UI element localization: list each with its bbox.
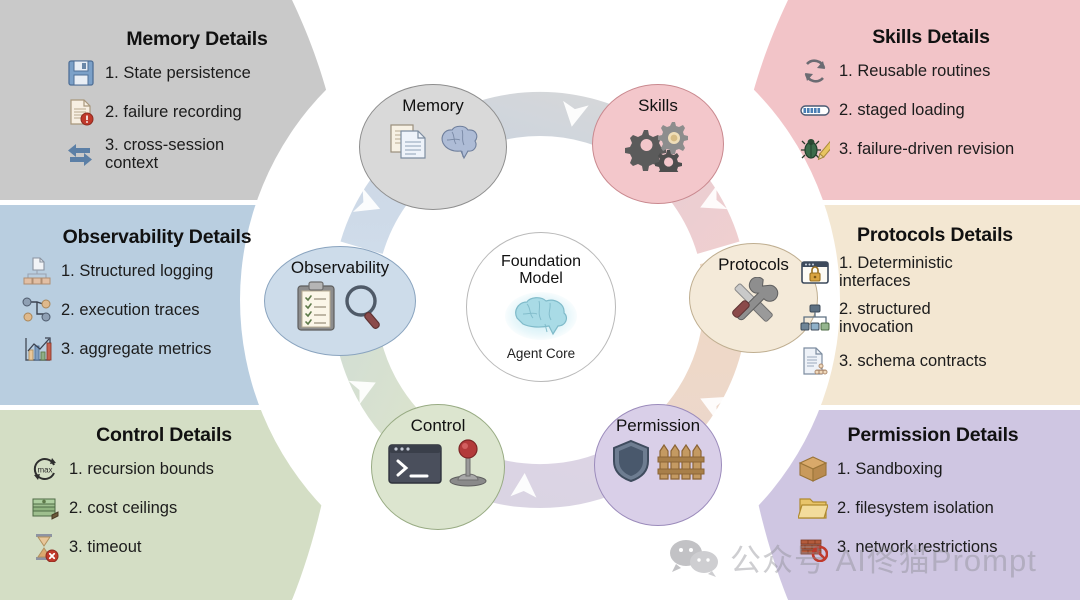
bar-chart-icon <box>22 334 52 364</box>
magnifier-icon <box>341 282 387 330</box>
document-error-icon <box>66 97 96 127</box>
panel-permission: Permission Details 1. Sandboxing 2. file… <box>798 424 1068 571</box>
firewall-blocked-icon <box>798 532 828 562</box>
brain-icon <box>436 121 480 161</box>
panel-protocols: Protocols Details 1. Deterministic inter… <box>800 224 1070 385</box>
bug-pencil-icon <box>800 134 830 164</box>
node-control[interactable]: Control <box>371 404 505 530</box>
list-item: 1. Structured logging <box>22 256 292 286</box>
graph-nodes-icon <box>22 295 52 325</box>
foundation-model-core[interactable]: Foundation Model Agent Core <box>466 232 616 382</box>
node-protocols[interactable]: Protocols <box>689 243 818 353</box>
fence-icon <box>656 439 708 483</box>
folder-icon <box>798 493 828 523</box>
list-item: 1. Deterministic interfaces <box>800 254 1070 291</box>
list-item-text: 3. aggregate metrics <box>61 340 211 358</box>
list-item: 3. aggregate metrics <box>22 334 292 364</box>
shield-icon <box>609 438 653 484</box>
max-loop-icon: max <box>30 454 60 484</box>
list-item: 2. structured invocation <box>800 300 1070 337</box>
org-tree-icon <box>800 303 830 333</box>
locked-window-icon <box>800 257 830 287</box>
panel-protocols-title: Protocols Details <box>800 224 1070 247</box>
panel-observability-title: Observability Details <box>22 226 292 249</box>
node-skills[interactable]: Skills <box>592 84 724 204</box>
documents-icon <box>387 118 433 164</box>
list-item: 1. Sandboxing <box>798 454 1068 484</box>
list-item-text: 2. filesystem isolation <box>837 499 994 517</box>
panel-control: Control Details max 1. recursion bounds … <box>30 424 298 571</box>
money-stack-icon <box>30 493 60 523</box>
panel-skills-title: Skills Details <box>800 26 1062 49</box>
list-item: 2. failure recording <box>66 97 328 127</box>
wrench-screwdriver-icon <box>723 277 785 329</box>
gears-icon <box>622 118 694 172</box>
list-item: 3. timeout <box>30 532 298 562</box>
list-item: 3. network restrictions <box>798 532 1068 562</box>
terminal-icon <box>387 439 443 487</box>
panel-memory: Memory Details 1. State persistence 2. f… <box>66 28 328 182</box>
clipboard-check-icon <box>294 280 338 332</box>
list-item-text: 3. cross-session context <box>105 136 224 173</box>
list-item: 3. schema contracts <box>800 346 1070 376</box>
hierarchy-doc-icon <box>22 256 52 286</box>
list-item-text: 3. network restrictions <box>837 538 998 556</box>
node-protocols-label: Protocols <box>718 255 789 275</box>
node-control-label: Control <box>411 416 466 436</box>
floppy-disk-icon <box>66 58 96 88</box>
schema-doc-icon <box>800 346 830 376</box>
list-item-text: 2. execution traces <box>61 301 200 319</box>
node-memory[interactable]: Memory <box>359 84 507 210</box>
diagram-canvas: Foundation Model Agent Core <box>0 0 1080 600</box>
list-item-text: 1. Reusable routines <box>839 62 990 80</box>
panel-control-title: Control Details <box>30 424 298 447</box>
list-item-text: 1. Deterministic interfaces <box>839 254 953 291</box>
list-item-text: 2. failure recording <box>105 103 242 121</box>
list-item: max 1. recursion bounds <box>30 454 298 484</box>
panel-memory-title: Memory Details <box>66 28 328 51</box>
list-item-text: 2. cost ceilings <box>69 499 177 517</box>
hourglass-error-icon <box>30 532 60 562</box>
list-item: 1. State persistence <box>66 58 328 88</box>
panel-skills: Skills Details 1. Reusable routines 2. s… <box>800 26 1062 173</box>
list-item: 2. cost ceilings <box>30 493 298 523</box>
list-item: 3. cross-session context <box>66 136 328 173</box>
node-skills-label: Skills <box>638 96 678 116</box>
list-item-text: 3. failure-driven revision <box>839 140 1014 158</box>
progress-bar-icon <box>800 95 830 125</box>
panel-permission-title: Permission Details <box>798 424 1068 447</box>
list-item: 3. failure-driven revision <box>800 134 1062 164</box>
list-item-text: 3. timeout <box>69 538 141 556</box>
core-subtitle: Agent Core <box>507 346 575 361</box>
node-observability-label: Observability <box>291 258 389 278</box>
list-item: 2. filesystem isolation <box>798 493 1068 523</box>
list-item-text: 3. schema contracts <box>839 352 987 370</box>
list-item-text: 1. Sandboxing <box>837 460 943 478</box>
list-item-text: 1. Structured logging <box>61 262 213 280</box>
list-item: 2. execution traces <box>22 295 292 325</box>
node-permission-label: Permission <box>616 416 700 436</box>
list-item-text: 2. structured invocation <box>839 300 931 337</box>
joystick-icon <box>446 438 490 488</box>
list-item: 2. staged loading <box>800 95 1062 125</box>
swap-arrows-icon <box>66 139 96 169</box>
box-icon <box>798 454 828 484</box>
list-item-text: 1. State persistence <box>105 64 251 82</box>
list-item: 1. Reusable routines <box>800 56 1062 86</box>
svg-text:max: max <box>37 466 52 475</box>
core-title: Foundation Model <box>501 253 581 288</box>
brain-icon <box>503 290 579 342</box>
list-item-text: 2. staged loading <box>839 101 965 119</box>
refresh-cycle-icon <box>800 56 830 86</box>
list-item-text: 1. recursion bounds <box>69 460 214 478</box>
node-memory-label: Memory <box>402 96 463 116</box>
panel-observability: Observability Details 1. Structured logg… <box>22 226 292 373</box>
node-permission[interactable]: Permission <box>594 404 722 526</box>
